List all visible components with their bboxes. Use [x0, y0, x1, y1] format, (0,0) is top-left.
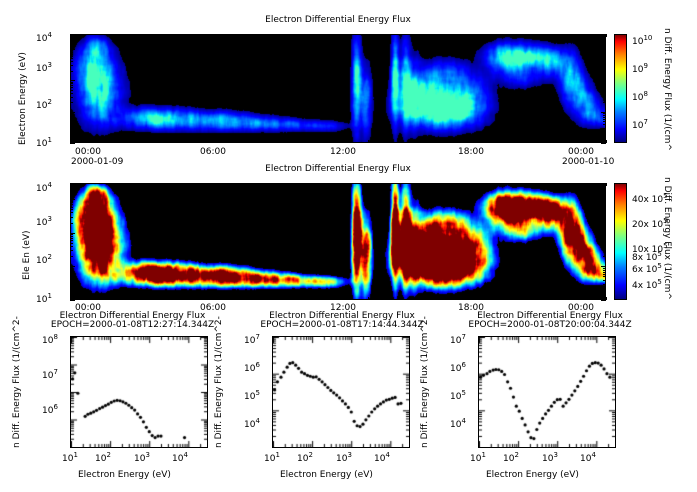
axis-tick [603, 58, 606, 59]
axis-tick [603, 124, 606, 125]
axis-tick [603, 270, 606, 271]
axis-tick [70, 223, 73, 224]
spectrogram-top-ytick-4: 104 [36, 31, 52, 44]
axis-tick [603, 83, 606, 84]
axis-tick [70, 49, 75, 50]
axis-tick [70, 199, 75, 200]
spectrum-right-xtick-3: 103 [542, 451, 558, 464]
axis-tick [546, 138, 547, 143]
axis-tick [603, 85, 606, 86]
axis-tick [70, 284, 73, 285]
axis-tick [601, 143, 606, 144]
axis-tick [603, 82, 606, 83]
axis-tick [603, 102, 606, 103]
axis-tick [427, 138, 428, 143]
axis-tick [603, 223, 606, 224]
spectrogram-bottom-colorbar [614, 183, 627, 300]
axis-tick [603, 202, 606, 203]
axis-tick [603, 134, 606, 135]
axis-tick [427, 34, 428, 39]
spectrogram-bottom-ytick-3: 103 [36, 215, 52, 228]
spectrogram-top-ytick-1: 101 [36, 136, 52, 149]
axis-tick [70, 234, 73, 235]
axis-tick [368, 34, 369, 37]
axis-tick [603, 240, 606, 241]
axis-tick [368, 183, 369, 186]
axis-tick [487, 297, 488, 300]
axis-tick [603, 209, 606, 210]
spectrum-right-xlabel: Electron Energy (eV) [486, 470, 579, 480]
axis-tick [70, 83, 73, 84]
axis-tick [603, 71, 606, 72]
axis-tick [70, 58, 73, 59]
axis-tick [308, 138, 309, 143]
axis-tick [70, 207, 73, 208]
axis-tick [70, 243, 73, 244]
spectrogram-top-ytick-2: 102 [36, 98, 52, 111]
axis-tick [70, 138, 71, 143]
axis-tick [427, 183, 428, 188]
axis-tick [603, 201, 606, 202]
axis-tick [603, 189, 606, 190]
spectrum-middle-xtick-2: 102 [297, 451, 313, 464]
spectrum-middle-ytick-7: 107 [244, 333, 260, 346]
axis-tick [70, 40, 73, 41]
spectrum-left-plot [70, 336, 208, 448]
axis-tick [603, 119, 606, 120]
axis-tick [70, 61, 73, 62]
axis-tick [603, 276, 606, 277]
axis-tick [70, 295, 71, 300]
spectrum-right-ylabel: n Diff. Energy Flux (1/(cm^2- [420, 316, 430, 448]
axis-tick [603, 243, 606, 244]
axis-tick [70, 276, 73, 277]
axis-tick [601, 80, 606, 81]
axis-tick [368, 297, 369, 300]
axis-tick [70, 124, 73, 125]
spectrum-middle-subtitle: EPOCH=2000-01-08T17:14:44.344Z [232, 320, 452, 330]
axis-tick [70, 183, 71, 188]
axis-tick [189, 183, 190, 188]
spectrum-right-subtitle: EPOCH=2000-01-08T20:00:04.344Z [440, 320, 660, 330]
axis-tick [70, 290, 73, 291]
spectrogram-bottom-ytick-4: 104 [36, 181, 52, 194]
axis-tick [603, 250, 606, 251]
axis-tick [70, 233, 75, 234]
colorbar-top-tick-10: 1010 [632, 34, 652, 47]
axis-tick [70, 119, 73, 120]
spectrum-right-xtick-4: 104 [580, 451, 596, 464]
axis-tick [70, 209, 73, 210]
spectrum-middle-plot [272, 336, 410, 448]
spectrum-left-xtick-1: 101 [62, 451, 78, 464]
axis-tick [70, 93, 73, 94]
axis-tick [70, 256, 73, 257]
axis-tick [70, 240, 73, 241]
axis-tick [130, 140, 131, 143]
spectrum-middle-xtick-4: 104 [374, 451, 390, 464]
axis-tick [70, 56, 73, 57]
axis-tick [70, 65, 73, 66]
axis-tick [603, 87, 606, 88]
axis-tick [487, 140, 488, 143]
spectrogram-bottom-frame [70, 183, 606, 300]
axis-tick [70, 270, 73, 271]
colorbar-top-label: n Diff. Energy Flux (1/(cm^ [662, 28, 672, 151]
axis-tick [603, 97, 606, 98]
spectrum-middle-ytick-6: 106 [244, 361, 260, 374]
axis-tick [603, 274, 606, 275]
axis-tick [603, 284, 606, 285]
spectrum-middle-ytick-5: 105 [244, 389, 260, 402]
axis-tick [189, 34, 190, 39]
axis-tick [603, 115, 606, 116]
axis-tick [603, 234, 606, 235]
spectrogram-bottom-ylabel: Ele En (eV) [22, 230, 32, 280]
axis-tick [70, 117, 73, 118]
spectrum-left-subtitle: EPOCH=2000-01-08T12:27:14.344Z [20, 320, 245, 330]
axis-tick [603, 128, 606, 129]
axis-tick [603, 238, 606, 239]
axis-tick [603, 212, 606, 213]
axis-tick [601, 266, 606, 267]
axis-tick [130, 183, 131, 186]
axis-tick [249, 297, 250, 300]
colorbar-top-tick-9: 109 [632, 62, 648, 75]
axis-tick [70, 212, 73, 213]
spectrum-right-ytick-6: 106 [450, 361, 466, 374]
spectrum-left-xtick-3: 103 [134, 451, 150, 464]
axis-tick [70, 202, 73, 203]
axis-tick [70, 236, 73, 237]
axis-tick [487, 183, 488, 186]
spectrum-middle-xlabel: Electron Energy (eV) [280, 470, 373, 480]
axis-tick [70, 128, 73, 129]
colorbar-top-tick-7: 107 [632, 118, 648, 131]
axis-tick [603, 204, 606, 205]
axis-tick [70, 280, 73, 281]
spectrum-left-ytick-8: 108 [42, 333, 58, 346]
spectrum-left-ytick-7: 107 [42, 368, 58, 381]
axis-tick [70, 272, 73, 273]
axis-tick [368, 140, 369, 143]
spectrum-left-ylabel: n Diff. Energy Flux (1/(cm^2- [12, 316, 22, 448]
axis-tick [70, 50, 73, 51]
axis-tick [427, 295, 428, 300]
axis-tick [601, 49, 606, 50]
spectrogram-bottom-ytick-1: 101 [36, 292, 52, 305]
axis-tick [603, 90, 606, 91]
axis-tick [603, 207, 606, 208]
spectrum-middle-xtick-1: 101 [264, 451, 280, 464]
axis-tick [603, 65, 606, 66]
axis-tick [606, 183, 607, 186]
axis-tick [70, 250, 73, 251]
axis-tick [70, 274, 73, 275]
spectrum-middle-ylabel: n Diff. Energy Flux (1/(cm^2- [214, 316, 224, 448]
axis-tick [308, 34, 309, 39]
spectrum-right-xtick-2: 102 [503, 451, 519, 464]
axis-tick [189, 138, 190, 143]
spectrogram-bottom-ytick-2: 102 [36, 253, 52, 266]
axis-tick [606, 297, 607, 300]
axis-tick [603, 217, 606, 218]
axis-tick [70, 204, 73, 205]
axis-tick [603, 61, 606, 62]
spectrogram-top-ylabel: Electron Energy (eV) [18, 52, 28, 145]
axis-tick [546, 34, 547, 39]
spectrum-right-xtick-1: 101 [470, 451, 486, 464]
spectrogram-top-xtick-3: 18:00 [458, 147, 484, 157]
axis-tick [546, 295, 547, 300]
spectrum-left-xtick-4: 104 [172, 451, 188, 464]
axis-tick [603, 40, 606, 41]
axis-tick [603, 52, 606, 53]
axis-tick [70, 112, 75, 113]
spectrogram-top-xtick-4: 00:00 [568, 147, 594, 157]
spectrum-left-xlabel: Electron Energy (eV) [78, 470, 171, 480]
axis-tick [70, 143, 75, 144]
spectrogram-top-frame [70, 34, 606, 143]
axis-tick [601, 233, 606, 234]
axis-tick [601, 300, 606, 301]
spectrum-middle-ytick-4: 104 [244, 417, 260, 430]
axis-tick [603, 117, 606, 118]
spectrogram-top-xtick-1: 06:00 [200, 147, 226, 157]
axis-tick [606, 140, 607, 143]
axis-tick [70, 268, 73, 269]
axis-tick [70, 54, 73, 55]
colorbar-bottom-label: n Diff. Energy Flux (1/(cm^ [662, 177, 672, 300]
axis-tick [249, 140, 250, 143]
axis-tick [70, 102, 73, 103]
axis-tick [70, 201, 73, 202]
spectrum-left-xtick-2: 102 [95, 451, 111, 464]
axis-tick [603, 280, 606, 281]
axis-tick [603, 50, 606, 51]
spectrum-left-ytick-6: 106 [42, 403, 58, 416]
axis-tick [70, 246, 73, 247]
axis-tick [189, 295, 190, 300]
spectrogram-top-xtick-0: 00:00 [75, 147, 101, 157]
axis-tick [546, 183, 547, 188]
spectrum-right-ytick-7: 107 [450, 333, 466, 346]
axis-tick [70, 52, 73, 53]
axis-tick [249, 183, 250, 186]
axis-tick [70, 134, 73, 135]
axis-tick [603, 113, 606, 114]
axis-tick [70, 82, 73, 83]
axis-tick [70, 113, 73, 114]
axis-tick [70, 34, 71, 39]
axis-tick [70, 121, 73, 122]
axis-tick [603, 256, 606, 257]
axis-tick [606, 34, 607, 37]
colorbar-top-tick-8: 108 [632, 90, 648, 103]
axis-tick [603, 236, 606, 237]
spectrum-right-ytick-4: 104 [450, 417, 466, 430]
axis-tick [70, 300, 75, 301]
axis-tick [603, 246, 606, 247]
axis-tick [70, 217, 73, 218]
axis-tick [603, 56, 606, 57]
spectrum-right-plot [478, 336, 616, 448]
spectrum-right-ytick-5: 105 [450, 389, 466, 402]
axis-tick [603, 290, 606, 291]
spectrogram-top-ytick-3: 103 [36, 61, 52, 74]
spectrogram-top-colorbar [614, 34, 627, 143]
axis-tick [70, 71, 73, 72]
axis-tick [308, 295, 309, 300]
axis-tick [603, 54, 606, 55]
axis-tick [603, 272, 606, 273]
axis-tick [70, 87, 73, 88]
spectrogram-top-xtick-2: 12:00 [330, 147, 356, 157]
axis-tick [601, 112, 606, 113]
colorbar-bottom-tick-4: 4x 105 [632, 278, 662, 291]
axis-tick [603, 121, 606, 122]
colorbar-bottom-tick-6: 6x 105 [632, 262, 662, 275]
spectrogram-top-title: Electron Differential Energy Flux [70, 15, 606, 25]
spectrum-middle-xtick-3: 103 [336, 451, 352, 464]
axis-tick [249, 34, 250, 37]
axis-tick [70, 85, 73, 86]
axis-tick [603, 93, 606, 94]
axis-tick [70, 266, 75, 267]
axis-tick [70, 189, 73, 190]
axis-tick [601, 199, 606, 200]
axis-tick [70, 80, 75, 81]
axis-tick [130, 34, 131, 37]
axis-tick [130, 297, 131, 300]
axis-tick [70, 115, 73, 116]
spectrogram-bottom-title: Electron Differential Energy Flux [70, 164, 606, 174]
axis-tick [308, 183, 309, 188]
axis-tick [70, 97, 73, 98]
axis-tick [487, 34, 488, 37]
axis-tick [70, 238, 73, 239]
axis-tick [70, 90, 73, 91]
axis-tick [603, 268, 606, 269]
